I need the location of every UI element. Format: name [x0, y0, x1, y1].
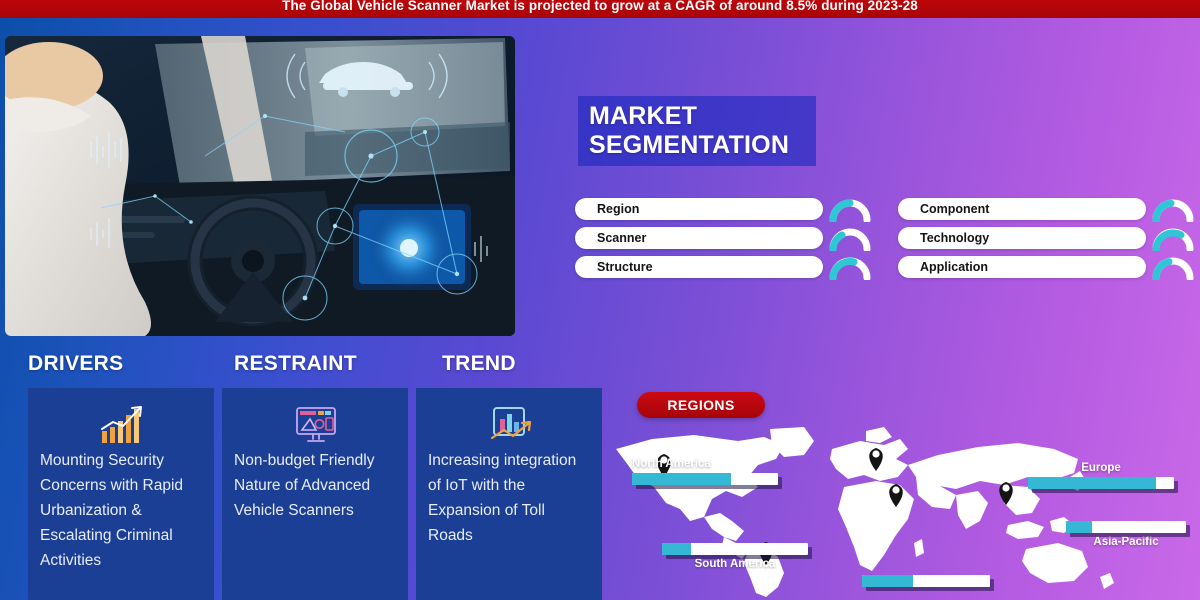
segmentation-list: Region Scanner Structure Component	[575, 198, 1195, 298]
region-europe: Europe	[1028, 462, 1174, 489]
bar-fill	[632, 473, 731, 485]
region-label-north-america: North America	[632, 458, 778, 470]
bar-fill	[1066, 521, 1092, 533]
region-bar-europe	[1028, 477, 1174, 489]
regions-badge-label: REGIONS	[667, 397, 734, 413]
arc-gauge-icon	[1151, 196, 1195, 222]
card-restraint[interactable]: Non-budget Friendly Nature of Advanced V…	[222, 388, 408, 600]
segmentation-title-line2: SEGMENTATION	[589, 131, 816, 161]
card-restraint-text: Non-budget Friendly Nature of Advanced V…	[234, 448, 398, 523]
heading-restraint: RESTRAINT	[234, 352, 357, 376]
region-south-america: South America	[662, 540, 808, 570]
card-drivers[interactable]: Mounting Security Concerns with Rapid Ur…	[28, 388, 214, 600]
banner-text: The Global Vehicle Scanner Market is pro…	[282, 0, 918, 13]
segmentation-item-application[interactable]: Application	[898, 256, 1195, 278]
segmentation-label-scanner[interactable]: Scanner	[575, 227, 823, 249]
region-label-asia-pacific: Asia-Pacific	[1066, 536, 1186, 548]
arc-gauge-icon	[828, 196, 872, 222]
bar-fill	[1028, 477, 1156, 489]
region-bar-north-america	[632, 473, 778, 485]
regions-badge: REGIONS	[637, 392, 765, 418]
segmentation-label-structure[interactable]: Structure	[575, 256, 823, 278]
segmentation-item-technology[interactable]: Technology	[898, 227, 1195, 249]
bar-track	[632, 473, 778, 485]
bar-fill	[662, 543, 691, 555]
segmentation-label-component[interactable]: Component	[898, 198, 1146, 220]
card-trend[interactable]: Increasing integration of IoT with the E…	[416, 388, 602, 600]
segmentation-title-line1: MARKET	[589, 102, 816, 132]
region-bar-middle-east-africa	[862, 575, 990, 587]
arc-gauge-icon	[1151, 254, 1195, 280]
bar-fill	[862, 575, 913, 587]
segmentation-column-right: Component Technology Application	[898, 198, 1195, 298]
heading-trend: TREND	[442, 352, 516, 376]
segmentation-label-technology[interactable]: Technology	[898, 227, 1146, 249]
segmentation-item-scanner[interactable]: Scanner	[575, 227, 872, 249]
arc-gauge-icon	[828, 225, 872, 251]
segmentation-column-left: Region Scanner Structure	[575, 198, 872, 298]
region-north-america: North America	[632, 458, 778, 485]
card-trend-text: Increasing integration of IoT with the E…	[428, 448, 592, 548]
region-bar-south-america	[662, 543, 808, 555]
top-banner: The Global Vehicle Scanner Market is pro…	[0, 0, 1200, 18]
segmentation-label-region[interactable]: Region	[575, 198, 823, 220]
region-bar-asia-pacific	[1066, 521, 1186, 533]
region-label-europe: Europe	[1028, 462, 1174, 474]
region-label-south-america: South America	[662, 558, 808, 570]
segmentation-item-region[interactable]: Region	[575, 198, 872, 220]
monitor-analytics-icon	[234, 402, 398, 448]
bar-track	[862, 575, 990, 587]
arc-gauge-icon	[1151, 225, 1195, 251]
heading-drivers: DRIVERS	[28, 352, 123, 376]
segmentation-item-component[interactable]: Component	[898, 198, 1195, 220]
bar-track	[662, 543, 808, 555]
bar-chart-growth-icon	[40, 402, 204, 448]
bar-track	[1028, 477, 1174, 489]
market-segmentation-title: MARKET SEGMENTATION	[578, 96, 816, 166]
segmentation-label-application[interactable]: Application	[898, 256, 1146, 278]
bar-track	[1066, 521, 1186, 533]
hero-image-car-interior	[5, 36, 515, 336]
card-drivers-text: Mounting Security Concerns with Rapid Ur…	[40, 448, 204, 574]
factor-cards: Mounting Security Concerns with Rapid Ur…	[28, 388, 622, 600]
region-asia-pacific: Asia-Pacific	[1066, 518, 1186, 548]
region-middle-east-africa	[862, 572, 990, 587]
factor-headings: DRIVERS RESTRAINT TREND	[28, 352, 628, 382]
arc-gauge-icon	[828, 254, 872, 280]
segmentation-item-structure[interactable]: Structure	[575, 256, 872, 278]
bar-chart-trend-icon	[428, 402, 592, 448]
